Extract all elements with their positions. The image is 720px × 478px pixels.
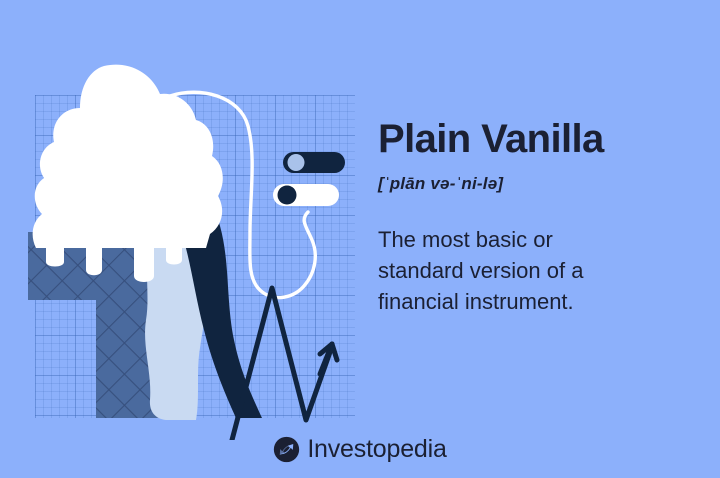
toggle-switch-light[interactable] [273, 184, 339, 206]
brand-name: Investopedia [307, 435, 446, 464]
toggle-switch-dark[interactable] [283, 152, 345, 173]
investopedia-bolt-icon [273, 436, 300, 463]
investopedia-logo: Investopedia [0, 435, 720, 464]
ice-cream-cone-illustration [0, 0, 380, 440]
page-title: Plain Vanilla [378, 118, 678, 160]
pronunciation: [ˈplān və-ˈni-lə] [378, 174, 678, 194]
upward-trend-arrow [320, 344, 337, 374]
definition-card: Plain Vanilla [ˈplān və-ˈni-lə] The most… [0, 0, 720, 478]
definition-text-column: Plain Vanilla [ˈplān və-ˈni-lə] The most… [378, 118, 678, 318]
definition-description: The most basic or standard version of a … [378, 224, 633, 318]
